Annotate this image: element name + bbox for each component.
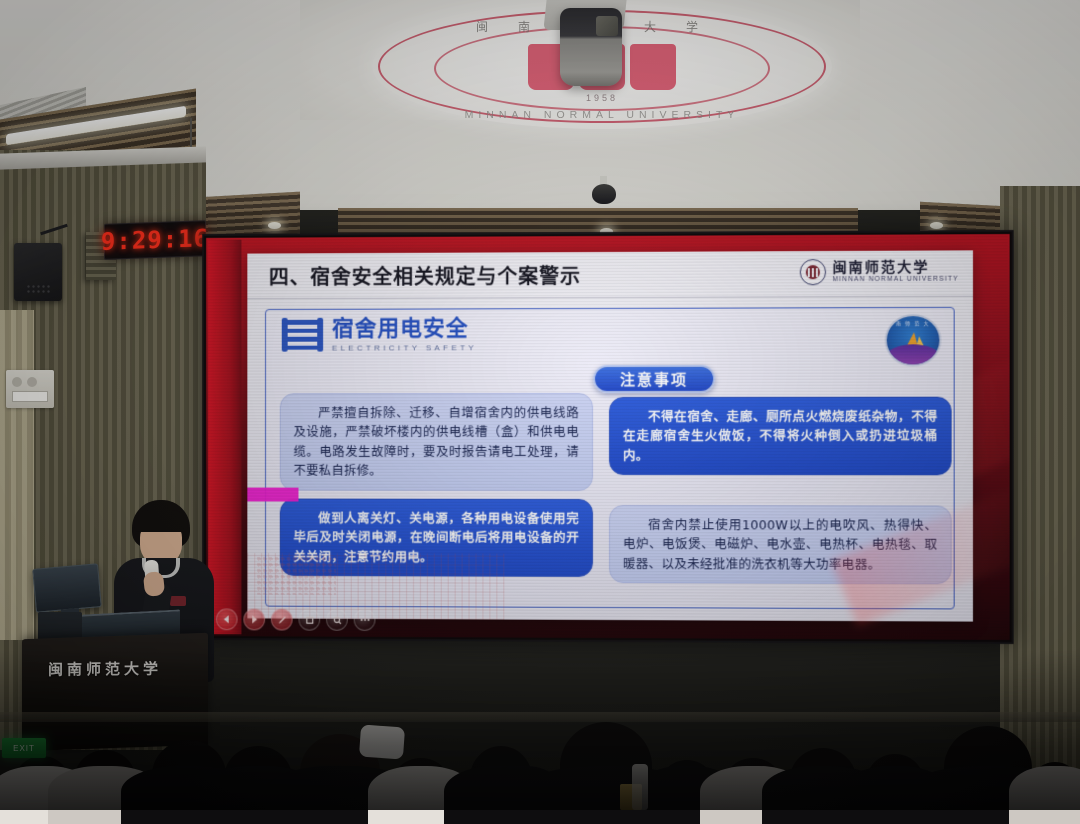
presenter-fringe — [134, 510, 188, 532]
emblem-english-name: MINNAN NORMAL UNIVERSITY — [372, 109, 832, 121]
ceiling-downlight — [930, 222, 943, 229]
zoom-button[interactable] — [326, 609, 348, 631]
badge-wave-icon — [887, 344, 940, 364]
wall-control-panel[interactable] — [6, 370, 54, 408]
water-bottle — [632, 764, 648, 810]
slide-body: 宿舍用电安全 ELECTRICITY SAFETY 闽 南 师 范 大 学 注意… — [247, 297, 973, 622]
logo-chinese-name: 闽南师范大学 — [832, 260, 958, 276]
clock-time: 9:29:16 — [101, 224, 209, 256]
campus-safety-badge-icon: 闽 南 师 范 大 学 — [885, 314, 942, 367]
bunk-bed-icon — [282, 318, 323, 352]
podium-monitor — [32, 563, 102, 613]
screen-background: 四、宿舍安全相关规定与个案警示 闽南师范大学 MINNAN NORMAL UNI… — [206, 234, 1009, 640]
slide-title: 四、宿舍安全相关规定与个案警示 — [269, 260, 581, 290]
safety-text-box-4: 宿舍内禁止使用1000W以上的电吹风、热得快、电炉、电饭煲、电磁炉、电水壶、电热… — [609, 505, 952, 584]
face-mask — [359, 725, 405, 760]
safety-text-3: 做到人离关灯、关电源，各种用电设备使用完毕后及时关闭电源，在晚间断电后将用电设备… — [294, 508, 579, 567]
audience: EXIT — [0, 660, 1080, 810]
badge-arc-text: 闽 南 师 范 大 学 — [887, 321, 940, 327]
safety-text-4: 宿舍内禁止使用1000W以上的电吹风、热得快、电炉、电饭煲、电磁炉、电水壶、电热… — [623, 515, 937, 574]
play-button[interactable] — [243, 609, 265, 631]
ceiling-camera-icon — [592, 176, 616, 204]
university-crest-icon — [800, 259, 826, 285]
window-curtain — [0, 310, 34, 640]
content-card: 宿舍用电安全 ELECTRICITY SAFETY 闽 南 师 范 大 学 注意… — [265, 307, 955, 610]
media-player-toolbar[interactable] — [216, 608, 375, 631]
exit-sign-label: EXIT — [13, 744, 35, 753]
crop-button[interactable] — [298, 609, 320, 631]
exit-sign: EXIT — [2, 738, 46, 758]
led-clock-display: 9:29:16 — [104, 220, 206, 260]
more-button[interactable] — [354, 609, 376, 631]
safety-text-box-2: 不得在宿舍、走廊、厕所点火燃烧废纸杂物，不得在走廊宿舍生火做饭，不得将火种倒入或… — [609, 397, 952, 476]
safety-text-1: 严禁擅自拆除、迁移、自增宿舍内的供电线路及设施，严禁破坏楼内的供电线槽（盒）和供… — [294, 403, 579, 480]
pen-button[interactable] — [271, 609, 293, 631]
notice-badge-label: 注意事项 — [620, 368, 688, 389]
presenter-shirt-badge — [170, 596, 186, 606]
wall-speaker-icon — [14, 243, 62, 301]
ceiling-downlight — [268, 222, 281, 229]
lecture-hall-scene: 闽南师范大学 1958 MINNAN NORMAL UNIVERSITY 9:2… — [0, 0, 1080, 810]
notice-badge: 注意事项 — [593, 365, 715, 393]
screen-glitch-artifact — [247, 488, 298, 502]
projector-lens-icon — [596, 16, 618, 36]
previous-button[interactable] — [216, 608, 238, 630]
led-screen: 四、宿舍安全相关规定与个案警示 闽南师范大学 MINNAN NORMAL UNI… — [202, 230, 1013, 644]
audience-head — [392, 758, 450, 810]
safety-text-box-1: 严禁擅自拆除、迁移、自增宿舍内的供电线路及设施，严禁破坏楼内的供电线槽（盒）和供… — [280, 393, 593, 490]
seating-row — [0, 712, 1080, 722]
slide-header: 四、宿舍安全相关规定与个案警示 闽南师范大学 MINNAN NORMAL UNI… — [247, 250, 973, 299]
presenter-hand — [143, 571, 165, 597]
card-heading-english: ELECTRICITY SAFETY — [332, 343, 477, 352]
slide-university-logo: 闽南师范大学 MINNAN NORMAL UNIVERSITY — [800, 258, 959, 285]
logo-english-name: MINNAN NORMAL UNIVERSITY — [832, 276, 958, 284]
audience-head — [1030, 762, 1080, 810]
card-heading-group: 宿舍用电安全 ELECTRICITY SAFETY — [282, 317, 477, 352]
card-heading-chinese: 宿舍用电安全 — [332, 317, 477, 341]
safety-text-box-3: 做到人离关灯、关电源，各种用电设备使用完毕后及时关闭电源，在晚间断电后将用电设备… — [280, 499, 593, 578]
safety-text-2: 不得在宿舍、走廊、厕所点火燃烧废纸杂物，不得在走廊宿舍生火做饭，不得将火种倒入或… — [623, 407, 937, 466]
emblem-founding-year: 1958 — [372, 93, 832, 103]
presentation-slide: 四、宿舍安全相关规定与个案警示 闽南师范大学 MINNAN NORMAL UNI… — [247, 250, 973, 621]
